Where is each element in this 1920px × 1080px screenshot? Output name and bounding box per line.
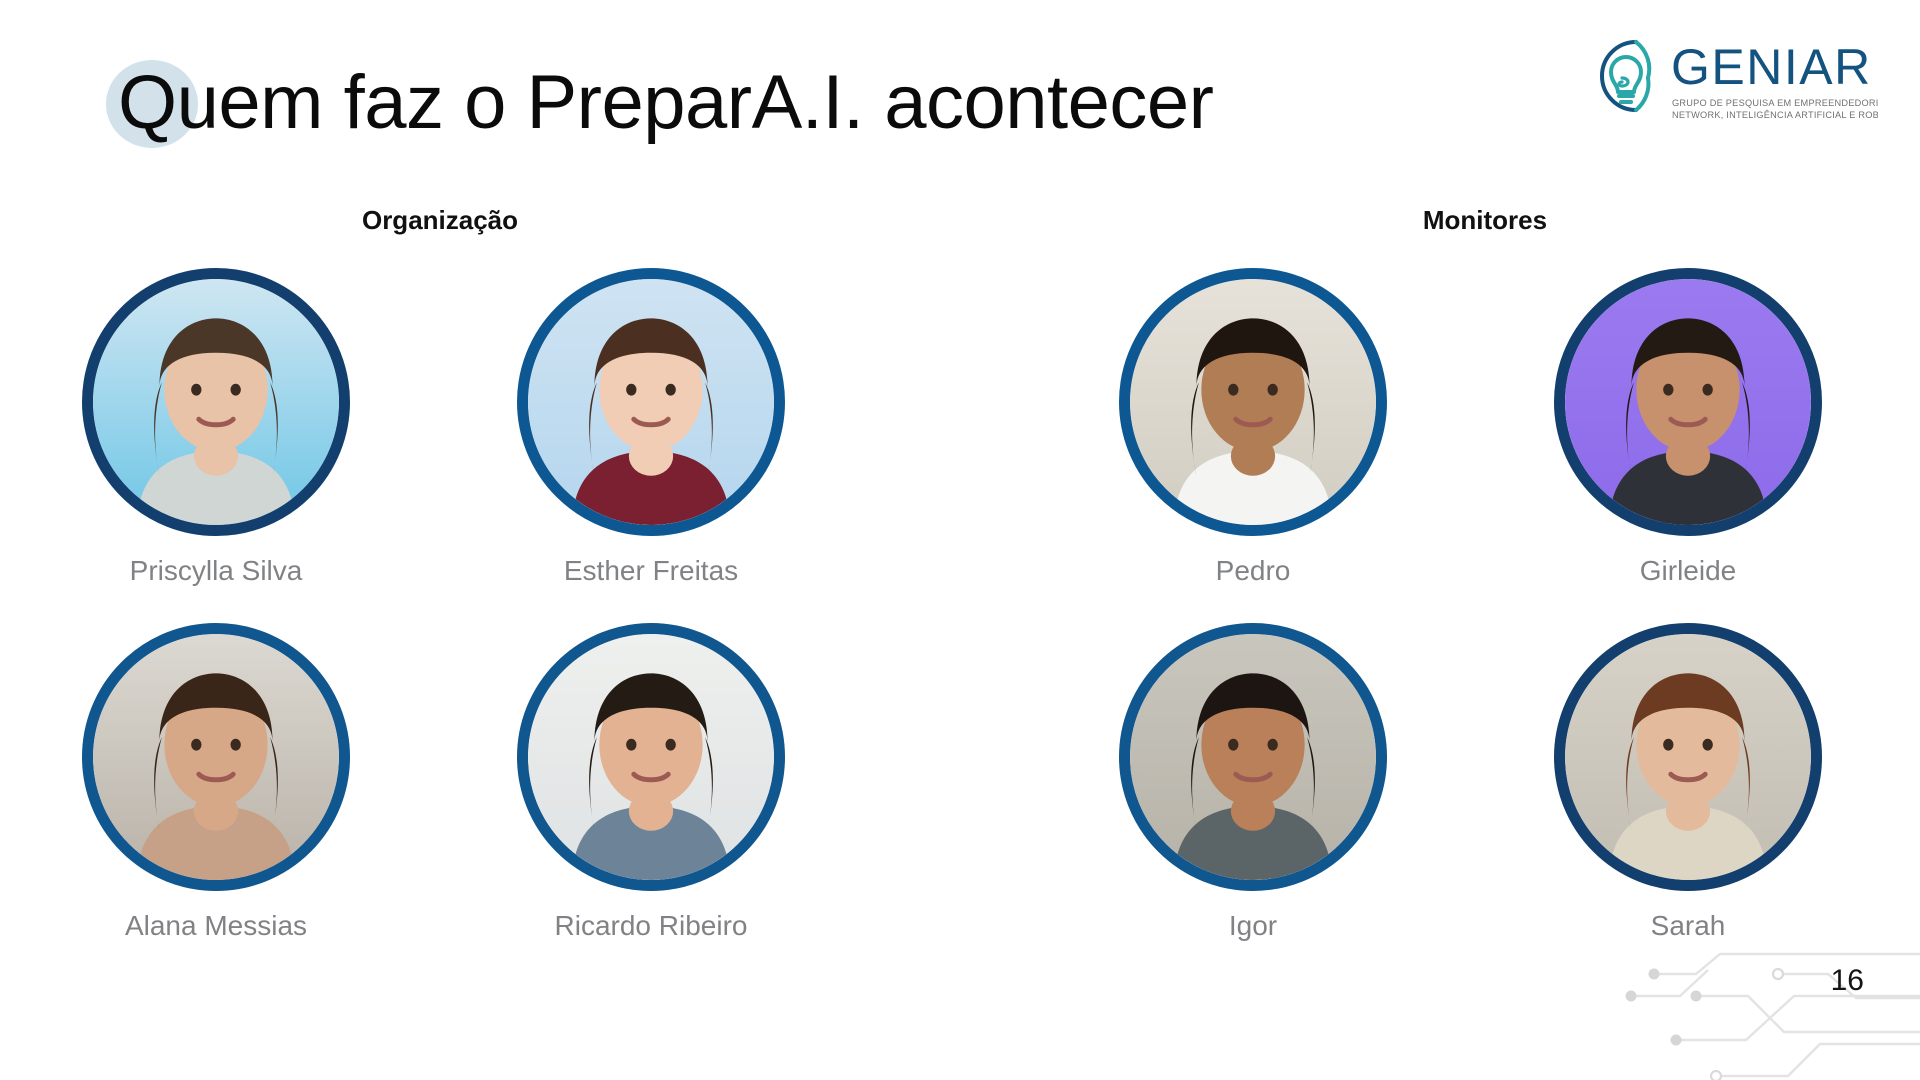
slide-quem-faz-preparai: Quem faz o PreparA.I. acontecer GENIAR G… bbox=[0, 0, 1920, 1080]
avatar bbox=[1554, 268, 1822, 536]
avatar bbox=[82, 268, 350, 536]
avatar bbox=[82, 623, 350, 891]
avatar bbox=[1119, 623, 1387, 891]
avatar bbox=[517, 268, 785, 536]
page-title: Quem faz o PreparA.I. acontecer bbox=[118, 48, 1213, 158]
avatar-photo-alana-messias bbox=[93, 634, 339, 880]
person-card[interactable]: Sarah bbox=[1548, 623, 1828, 942]
person-card[interactable]: Pedro bbox=[1113, 268, 1393, 587]
geniar-logo: GENIAR GRUPO DE PESQUISA EM EMPREENDEDOR… bbox=[1566, 22, 1878, 138]
person-name: Ricardo Ribeiro bbox=[555, 911, 748, 942]
avatar bbox=[1119, 268, 1387, 536]
page-title-text: Quem faz o PreparA.I. acontecer bbox=[118, 65, 1213, 141]
person-name: Alana Messias bbox=[125, 911, 307, 942]
avatar bbox=[1554, 623, 1822, 891]
avatar bbox=[517, 623, 785, 891]
person-name: Sarah bbox=[1651, 911, 1726, 942]
person-name: Girleide bbox=[1640, 556, 1736, 587]
people-group-monitores: Pedro Girleide Igor Sarah bbox=[1113, 268, 1828, 942]
avatar-photo-igor bbox=[1130, 634, 1376, 880]
section-heading-monitores: Monitores bbox=[1245, 205, 1725, 236]
circuit-decoration-icon bbox=[1620, 940, 1920, 1080]
person-name: Igor bbox=[1229, 911, 1277, 942]
slide-number: 16 bbox=[1831, 964, 1864, 998]
person-card[interactable]: Ricardo Ribeiro bbox=[511, 623, 791, 942]
person-card[interactable]: Alana Messias bbox=[76, 623, 356, 942]
logo-tagline-line2: NETWORK, INTELIGÊNCIA ARTIFICIAL E ROBÓT… bbox=[1672, 110, 1878, 120]
person-card[interactable]: Igor bbox=[1113, 623, 1393, 942]
logo-tagline-line1: GRUPO DE PESQUISA EM EMPREENDEDORISMO, bbox=[1672, 98, 1878, 108]
avatar-photo-priscylla-silva bbox=[93, 279, 339, 525]
person-name: Esther Freitas bbox=[564, 556, 738, 587]
person-card[interactable]: Girleide bbox=[1548, 268, 1828, 587]
avatar-photo-girleide bbox=[1565, 279, 1811, 525]
avatar-photo-ricardo-ribeiro bbox=[528, 634, 774, 880]
person-card[interactable]: Priscylla Silva bbox=[76, 268, 356, 587]
people-group-organizacao: Priscylla Silva Esther Freitas Alana Mes… bbox=[76, 268, 791, 942]
avatar-photo-pedro bbox=[1130, 279, 1376, 525]
person-name: Pedro bbox=[1216, 556, 1291, 587]
person-card[interactable]: Esther Freitas bbox=[511, 268, 791, 587]
person-name: Priscylla Silva bbox=[130, 556, 303, 587]
logo-wordmark: GENIAR bbox=[1671, 39, 1872, 95]
avatar-photo-esther-freitas bbox=[528, 279, 774, 525]
avatar-photo-sarah bbox=[1565, 634, 1811, 880]
section-heading-organizacao: Organização bbox=[200, 205, 680, 236]
